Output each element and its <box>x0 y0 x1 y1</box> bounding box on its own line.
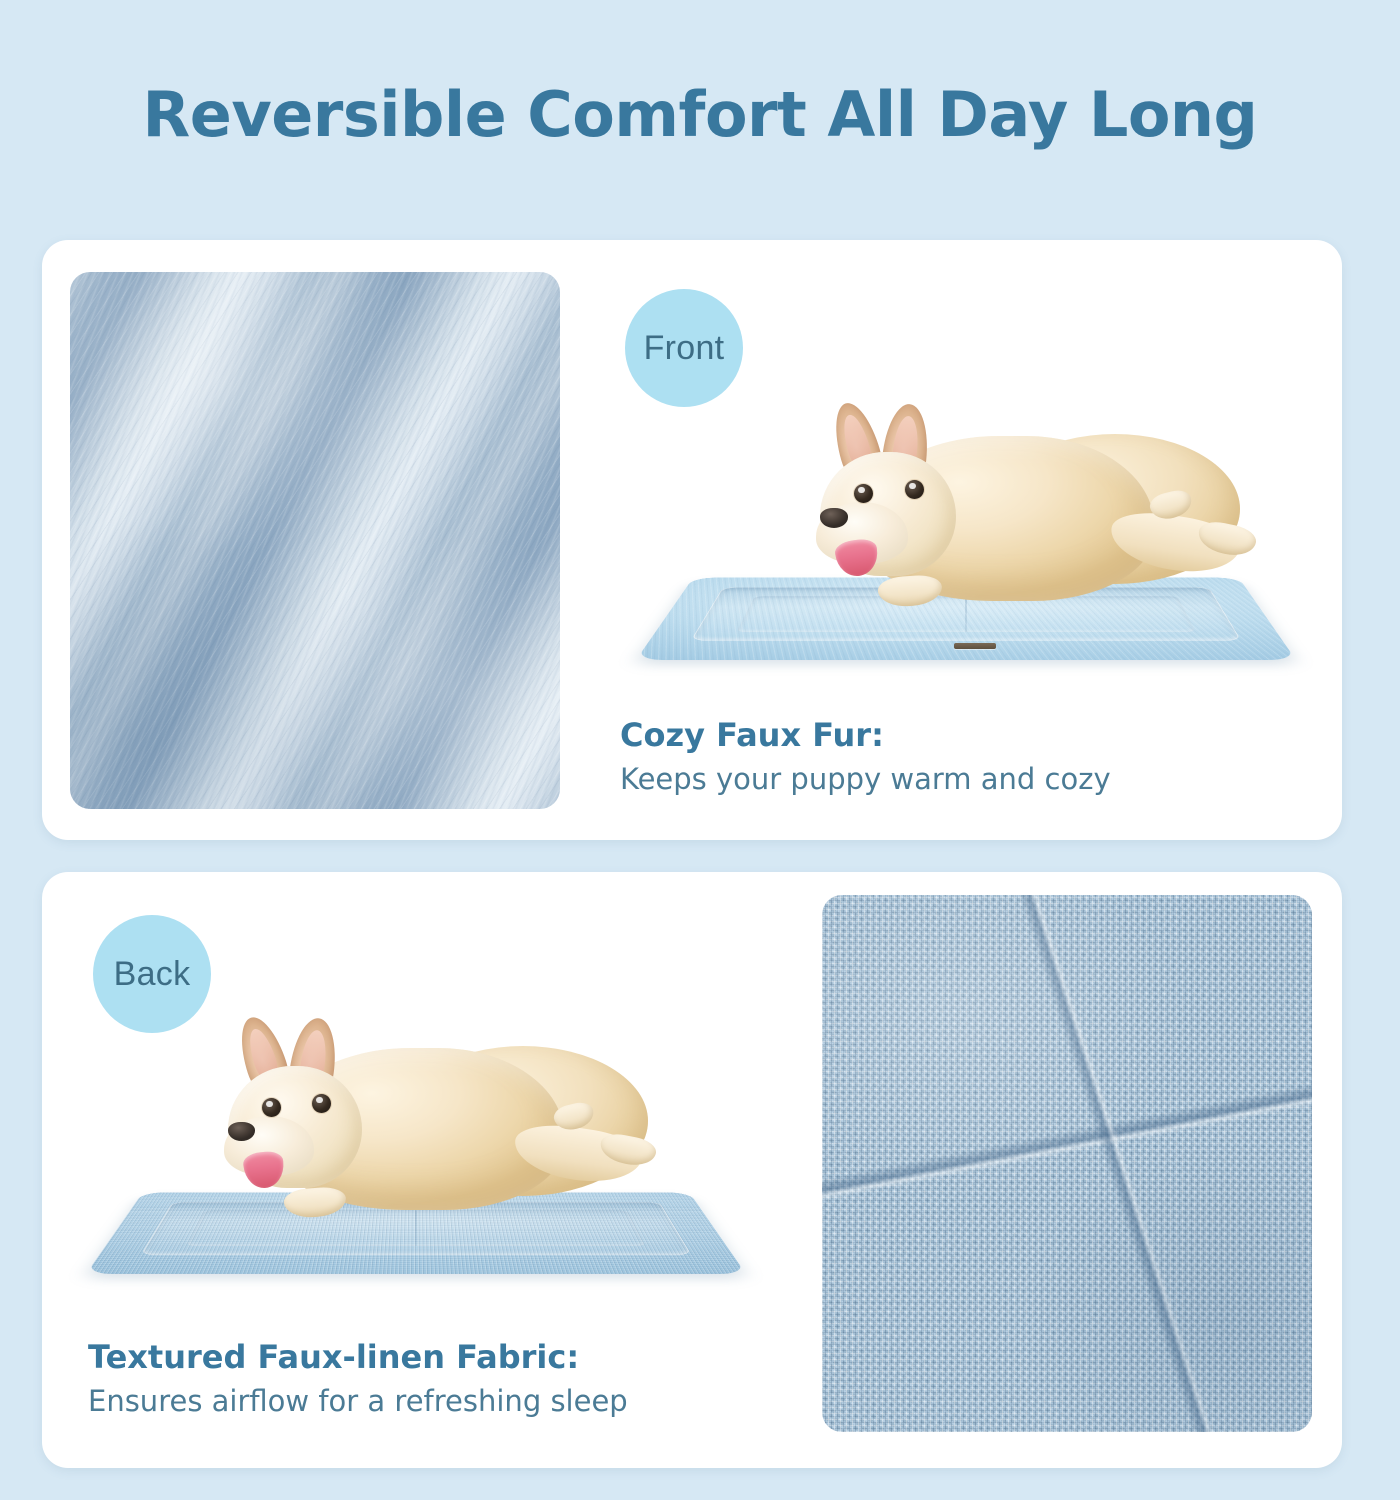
faux-linen-texture-photo <box>822 895 1312 1432</box>
dog-eye-left <box>262 1098 281 1117</box>
badge-back: Back <box>93 915 211 1033</box>
caption-front-title: Cozy Faux Fur: <box>620 718 1111 753</box>
dog-on-fleece-mat-photo <box>608 390 1328 690</box>
caption-front: Cozy Faux Fur: Keeps your puppy warm and… <box>620 718 1111 797</box>
dog-eye-right <box>905 480 924 499</box>
caption-back-subtitle: Ensures airflow for a refreshing sleep <box>88 1385 628 1418</box>
caption-front-subtitle: Keeps your puppy warm and cozy <box>620 763 1111 796</box>
caption-back: Textured Faux-linen Fabric: Ensures airf… <box>88 1340 628 1419</box>
scene-background <box>66 1010 766 1300</box>
dog-front-paw <box>877 574 943 608</box>
french-bulldog-illustration <box>758 408 1278 628</box>
dog-front-paw <box>283 1186 347 1219</box>
dog-eye-left <box>854 484 873 503</box>
linen-shading <box>822 895 1312 1432</box>
page-title: Reversible Comfort All Day Long <box>0 78 1400 151</box>
scene-background <box>608 390 1328 690</box>
badge-front: Front <box>625 289 743 407</box>
brand-label-tag <box>954 643 996 649</box>
dog-on-linen-mat-photo <box>66 1010 766 1300</box>
dog-eye-right <box>312 1094 331 1113</box>
faux-fur-texture-photo <box>70 272 560 809</box>
caption-back-title: Textured Faux-linen Fabric: <box>88 1340 628 1375</box>
infographic-page: Reversible Comfort All Day Long <box>0 0 1400 1500</box>
fur-shading <box>70 272 560 809</box>
french-bulldog-illustration <box>176 1024 696 1244</box>
